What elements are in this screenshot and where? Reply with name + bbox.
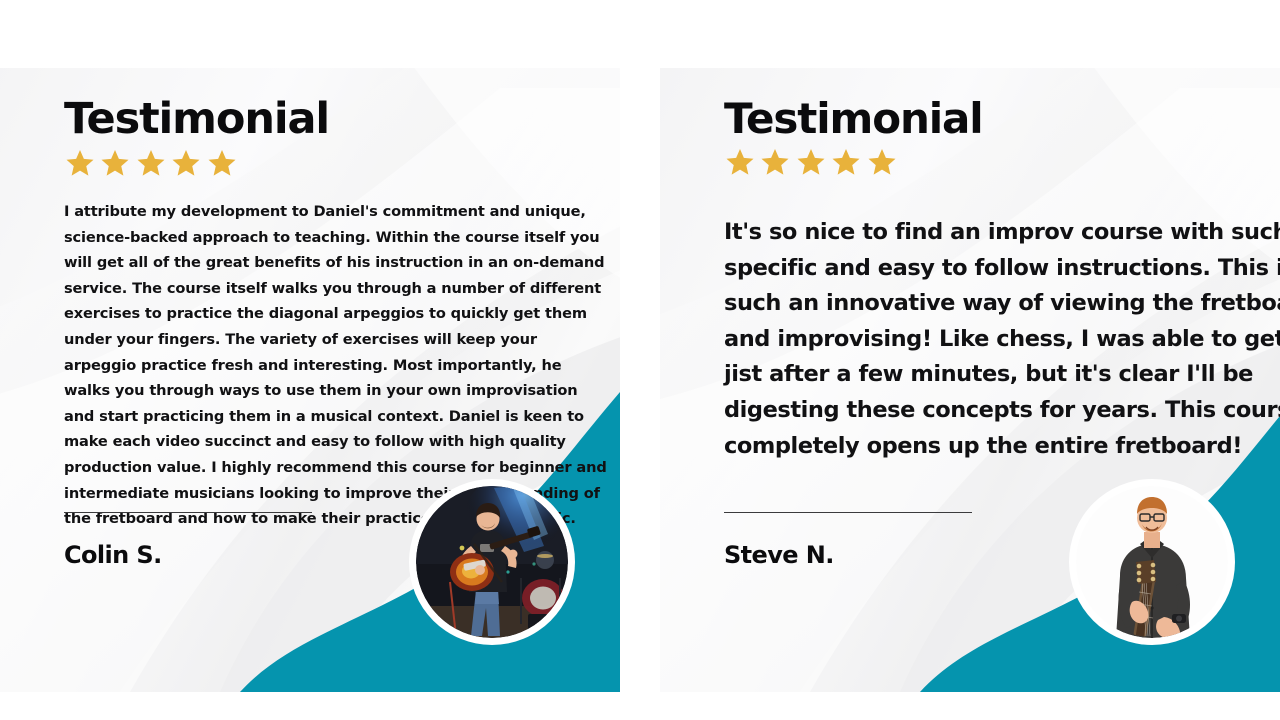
star-icon [206,148,238,178]
testimonial-card-colin: Testimonial I attribute my development t… [0,68,620,692]
author-divider [724,512,972,513]
star-icon [99,148,131,178]
author-divider [64,512,312,513]
avatar [416,486,568,638]
rating-stars [64,148,620,178]
testimonials-stage: Testimonial I attribute my development t… [0,0,1280,720]
author-name: Steve N. [724,541,834,569]
avatar [1076,486,1228,638]
star-icon [135,148,167,178]
star-icon [866,147,898,177]
author-name: Colin S. [64,541,162,569]
testimonial-card-steve: Testimonial It's so nice to find an impr… [660,68,1280,692]
card-title: Testimonial [724,94,1280,143]
testimonial-quote: It's so nice to find an improv course wi… [724,215,1280,464]
rating-stars [724,147,1280,177]
star-icon [170,148,202,178]
testimonial-quote: I attribute my development to Daniel's c… [64,199,612,532]
star-icon [795,147,827,177]
star-icon [64,148,96,178]
star-icon [759,147,791,177]
star-icon [830,147,862,177]
card-title: Testimonial [64,94,620,144]
star-icon [724,147,756,177]
